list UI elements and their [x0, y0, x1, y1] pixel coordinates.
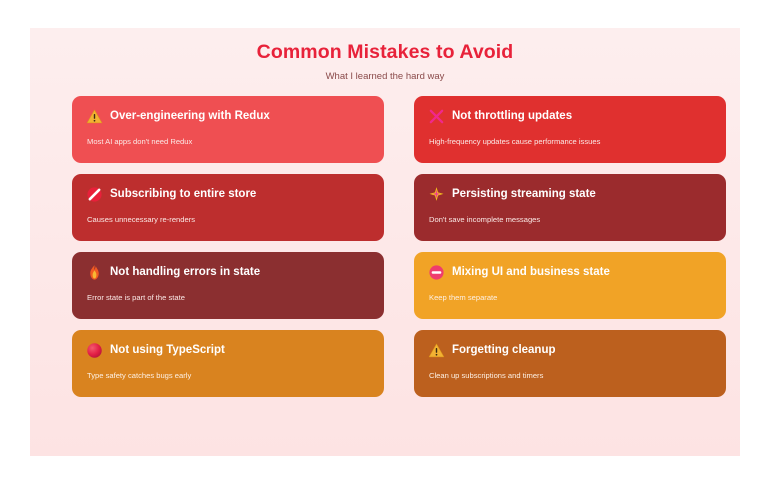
- page-subtitle: What I learned the hard way: [30, 71, 740, 82]
- mistake-card[interactable]: Forgetting cleanup Clean up subscription…: [414, 330, 726, 397]
- fire-icon: [86, 264, 103, 281]
- card-description: High-frequency updates cause performance…: [428, 137, 712, 146]
- mistake-card[interactable]: Not throttling updates High-frequency up…: [414, 96, 726, 163]
- card-header: Not throttling updates: [428, 106, 712, 126]
- cross-mark-icon: [428, 108, 445, 125]
- warning-triangle-icon: [86, 108, 103, 125]
- card-title: Mixing UI and business state: [452, 266, 610, 279]
- mistakes-card-grid: Over-engineering with Redux Most AI apps…: [72, 96, 698, 397]
- sparkle-star-icon: [428, 186, 445, 203]
- card-description: Type safety catches bugs early: [86, 371, 370, 380]
- card-description: Clean up subscriptions and timers: [428, 371, 712, 380]
- prohibited-sign-icon: [86, 186, 103, 203]
- card-header: Forgetting cleanup: [428, 340, 712, 360]
- mistake-card[interactable]: Subscribing to entire store Causes unnec…: [72, 174, 384, 241]
- card-title: Subscribing to entire store: [110, 188, 256, 201]
- card-header: Mixing UI and business state: [428, 262, 712, 282]
- mistake-card[interactable]: Not using TypeScript Type safety catches…: [72, 330, 384, 397]
- mistake-card[interactable]: Mixing UI and business state Keep them s…: [414, 252, 726, 319]
- page-title: Common Mistakes to Avoid: [30, 41, 740, 64]
- card-title: Forgetting cleanup: [452, 344, 556, 357]
- card-title: Not handling errors in state: [110, 266, 260, 279]
- card-description: Most AI apps don't need Redux: [86, 137, 370, 146]
- card-title: Persisting streaming state: [452, 188, 596, 201]
- red-circle-icon: [86, 342, 103, 359]
- card-title: Not using TypeScript: [110, 344, 225, 357]
- slide-header: Common Mistakes to Avoid What I learned …: [30, 28, 740, 82]
- card-description: Causes unnecessary re-renders: [86, 215, 370, 224]
- card-header: Not handling errors in state: [86, 262, 370, 282]
- slide-panel: Common Mistakes to Avoid What I learned …: [30, 28, 740, 456]
- card-description: Keep them separate: [428, 293, 712, 302]
- card-header: Subscribing to entire store: [86, 184, 370, 204]
- card-header: Not using TypeScript: [86, 340, 370, 360]
- mistake-card[interactable]: Persisting streaming state Don't save in…: [414, 174, 726, 241]
- card-title: Over-engineering with Redux: [110, 110, 270, 123]
- card-title: Not throttling updates: [452, 110, 572, 123]
- card-header: Over-engineering with Redux: [86, 106, 370, 126]
- mistake-card[interactable]: Not handling errors in state Error state…: [72, 252, 384, 319]
- mistake-card[interactable]: Over-engineering with Redux Most AI apps…: [72, 96, 384, 163]
- card-description: Error state is part of the state: [86, 293, 370, 302]
- card-description: Don't save incomplete messages: [428, 215, 712, 224]
- warning-triangle-icon: [428, 342, 445, 359]
- card-header: Persisting streaming state: [428, 184, 712, 204]
- no-entry-minus-icon: [428, 264, 445, 281]
